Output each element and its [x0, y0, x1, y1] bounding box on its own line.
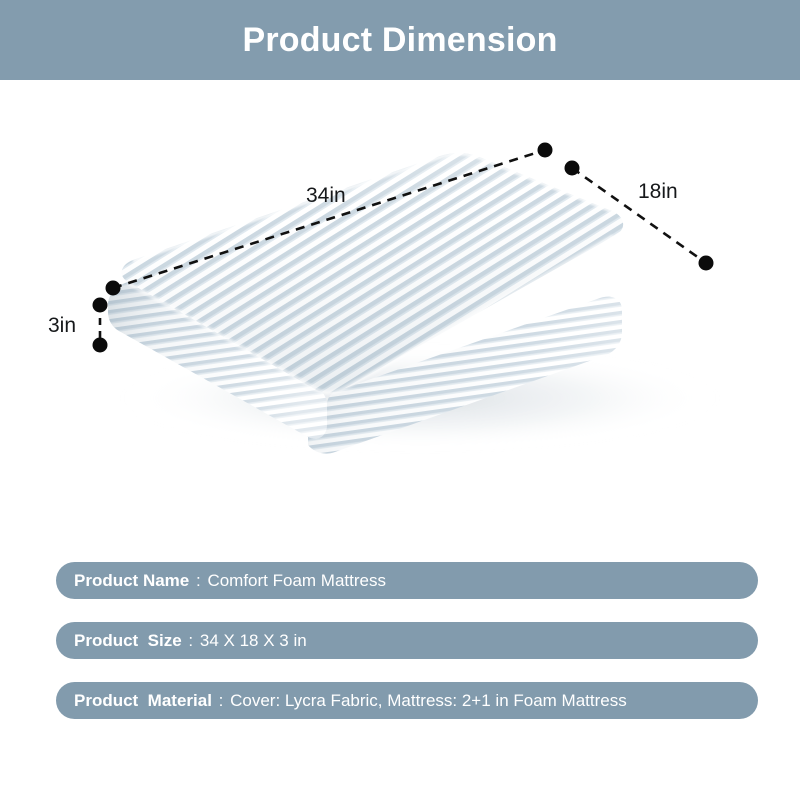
dimension-label-height: 3in: [48, 315, 76, 336]
spec-value-product-size: 34 X 18 X 3 in: [195, 631, 307, 651]
dimension-endpoint-dot: [93, 338, 108, 353]
dimension-endpoint-dot: [538, 143, 553, 158]
dimension-line-height: [93, 298, 108, 353]
page-title: Product Dimension: [242, 23, 557, 57]
dimension-endpoint-dot: [565, 161, 580, 176]
spec-value-product-material: Cover: Lycra Fabric, Mattress: 2+1 in Fo…: [225, 691, 626, 711]
spec-separator: :: [186, 631, 195, 651]
spec-separator: :: [194, 571, 203, 591]
dimension-label-width: 18in: [638, 181, 678, 202]
dimension-endpoint-dot: [93, 298, 108, 313]
dimension-endpoint-dot: [699, 256, 714, 271]
spec-row-product-size: Product Size : 34 X 18 X 3 in: [56, 622, 758, 659]
spec-separator: :: [217, 691, 226, 711]
dimension-label-length: 34in: [306, 185, 346, 206]
mattress-illustration: [0, 80, 800, 550]
spec-row-product-name: Product Name : Comfort Foam Mattress: [56, 562, 758, 599]
product-dimension-infographic: Product Dimension: [0, 0, 800, 800]
spec-label-product-material: Product Material: [74, 691, 217, 711]
spec-value-product-name: Comfort Foam Mattress: [203, 571, 386, 591]
spec-label-product-size: Product Size: [74, 631, 186, 651]
header-banner: Product Dimension: [0, 0, 800, 80]
product-spec-list: Product Name : Comfort Foam Mattress Pro…: [56, 562, 758, 719]
spec-label-product-name: Product Name: [74, 571, 194, 591]
spec-row-product-material: Product Material : Cover: Lycra Fabric, …: [56, 682, 758, 719]
dimension-endpoint-dot: [106, 281, 121, 296]
product-diagram: 34in 18in 3in: [0, 80, 800, 550]
